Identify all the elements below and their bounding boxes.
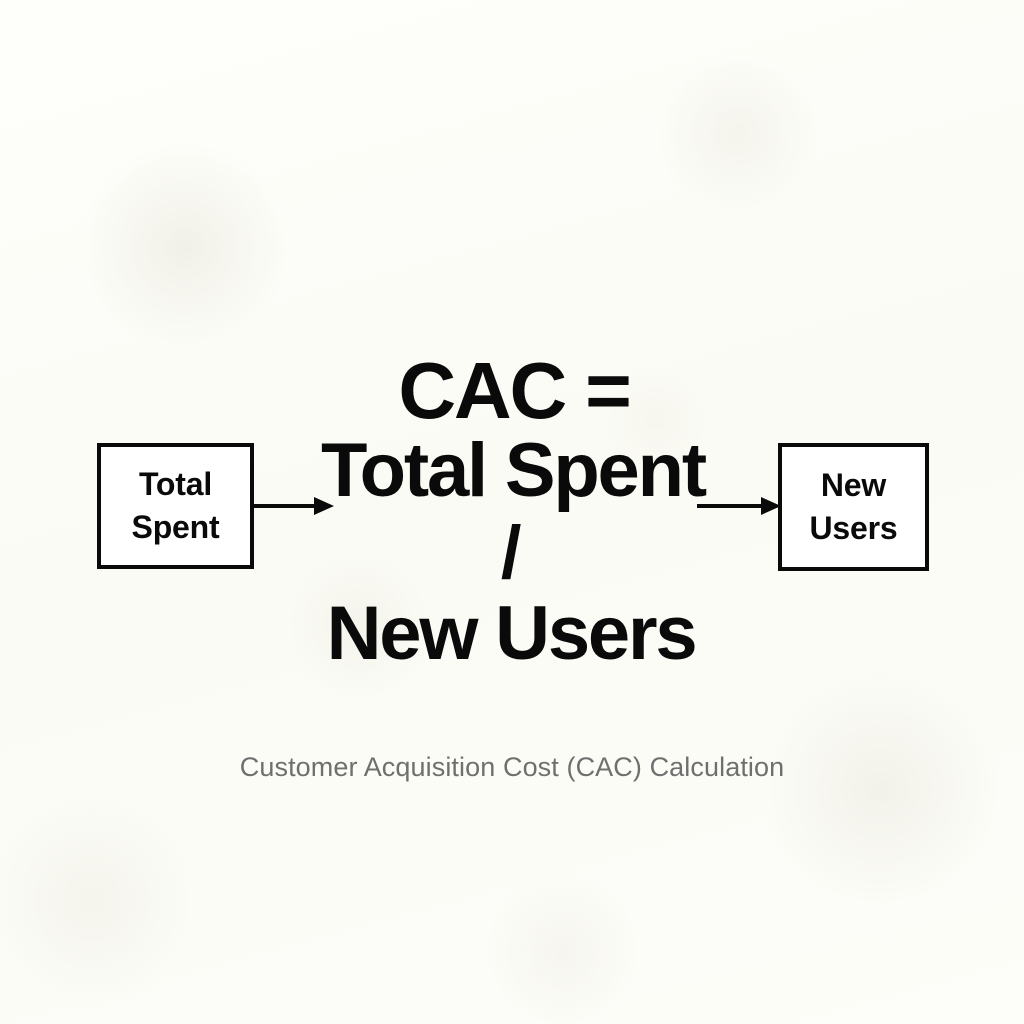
formula-head: CAC = [2,352,1024,430]
diagram-canvas: Total Spent CAC = Total Spent / New User… [0,0,1024,1024]
node-box-new-users[interactable]: New Users [778,443,929,571]
diagram-caption: Customer Acquisition Cost (CAC) Calculat… [0,752,1024,783]
arrow-right-icon-formula-to-output [697,494,781,518]
node-label-line-1: New [821,464,886,507]
node-label-line-2: Users [810,507,898,550]
formula-denominator: New Users [0,595,1023,673]
